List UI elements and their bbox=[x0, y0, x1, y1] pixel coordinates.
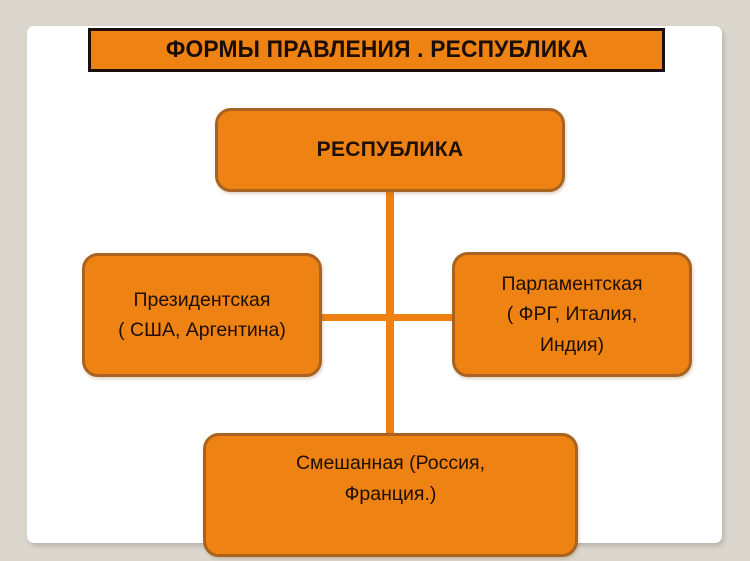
node-republic[interactable]: РЕСПУБЛИКА bbox=[215, 108, 565, 192]
page-title: ФОРМЫ ПРАВЛЕНИЯ . РЕСПУБЛИКА bbox=[165, 36, 587, 64]
connector-horizontal-presidential-to-parliamentary bbox=[312, 314, 462, 321]
connector-vertical-root-to-mixed bbox=[386, 188, 394, 438]
slide-title-banner: ФОРМЫ ПРАВЛЕНИЯ . РЕСПУБЛИКА bbox=[88, 28, 665, 72]
slide-canvas: ФОРМЫ ПРАВЛЕНИЯ . РЕСПУБЛИКА РЕСПУБЛИКА … bbox=[0, 0, 750, 561]
node-presidential-label: Президентская ( США, Аргентина) bbox=[118, 285, 286, 345]
node-parliamentary-label: Парламентская ( ФРГ, Италия, Индия) bbox=[501, 269, 642, 360]
node-mixed-label: Смешанная (Россия, Франция.) bbox=[296, 448, 485, 510]
node-parliamentary[interactable]: Парламентская ( ФРГ, Италия, Индия) bbox=[452, 252, 692, 377]
node-presidential[interactable]: Президентская ( США, Аргентина) bbox=[82, 253, 322, 377]
node-mixed[interactable]: Смешанная (Россия, Франция.) bbox=[203, 433, 578, 557]
node-republic-label: РЕСПУБЛИКА bbox=[317, 138, 464, 162]
